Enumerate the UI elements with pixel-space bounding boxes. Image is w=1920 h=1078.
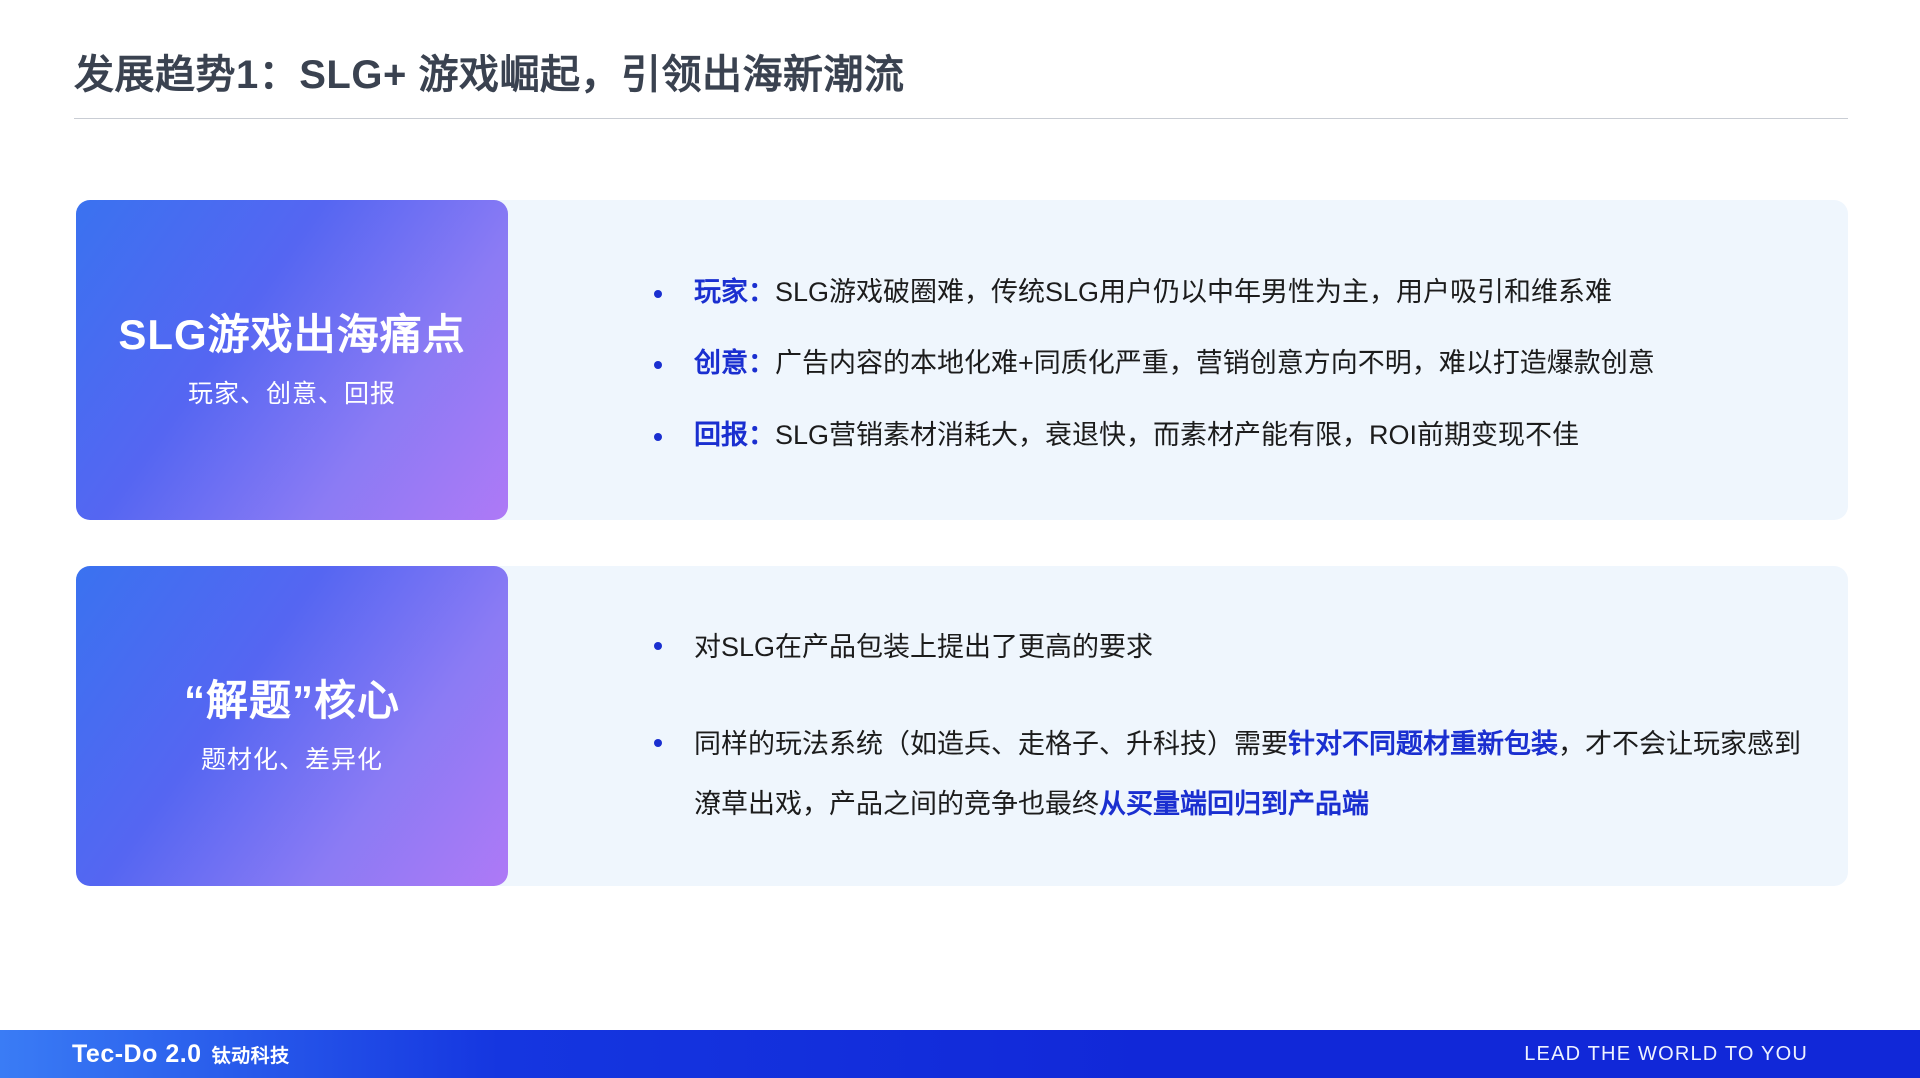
bullet-body-text-part-1: 同样的玩法系统（如造兵、走格子、升科技）需要: [694, 729, 1288, 759]
panel-subtitle: 题材化、差异化: [201, 740, 383, 776]
list-item: 对SLG在产品包装上提出了更高的要求: [648, 617, 1808, 678]
bullet-dot-icon: [654, 433, 662, 441]
bullet-lead-label: 创意：: [694, 348, 775, 378]
footer-tagline: LEAD THE WORLD TO YOU: [1524, 1043, 1808, 1066]
section-pain-points: SLG游戏出海痛点 玩家、创意、回报 玩家：SLG游戏破圈难，传统SLG用户仍以…: [76, 200, 1848, 520]
section-content-solution-core: 对SLG在产品包装上提出了更高的要求 同样的玩法系统（如造兵、走格子、升科技）需…: [508, 566, 1848, 886]
section-panel-pain-points: SLG游戏出海痛点 玩家、创意、回报: [76, 200, 508, 520]
list-item: 创意：广告内容的本地化难+同质化严重，营销创意方向不明，难以打造爆款创意: [648, 344, 1808, 383]
footer-bar: Tec-Do 2.0 钛动科技 LEAD THE WORLD TO YOU: [0, 1030, 1920, 1078]
bullet-body-text: 对SLG在产品包装上提出了更高的要求: [694, 632, 1153, 662]
bullet-dot-icon: [654, 290, 662, 298]
bullet-dot-icon: [654, 739, 662, 747]
brand-logo: Tec-Do 2.0 钛动科技: [72, 1040, 290, 1069]
bullet-body-text: 广告内容的本地化难+同质化严重，营销创意方向不明，难以打造爆款创意: [775, 348, 1655, 378]
bullet-dot-icon: [654, 361, 662, 369]
list-item: 玩家：SLG游戏破圈难，传统SLG用户仍以中年男性为主，用户吸引和维系难: [648, 273, 1808, 312]
title-divider: [74, 118, 1848, 119]
page-title: 发展趋势1：SLG+ 游戏崛起，引领出海新潮流: [74, 42, 904, 100]
bullet-highlight-2: 从买量端回归到产品端: [1099, 789, 1369, 819]
brand-name-cn: 钛动科技: [212, 1041, 290, 1068]
section-solution-core: “解题”核心 题材化、差异化 对SLG在产品包装上提出了更高的要求 同样的玩法系…: [76, 566, 1848, 886]
section-panel-solution-core: “解题”核心 题材化、差异化: [76, 566, 508, 886]
bullet-dot-icon: [654, 642, 662, 650]
bullet-body-text: SLG游戏破圈难，传统SLG用户仍以中年男性为主，用户吸引和维系难: [775, 277, 1612, 307]
panel-subtitle: 玩家、创意、回报: [188, 374, 396, 410]
list-item: 回报：SLG营销素材消耗大，衰退快，而素材产能有限，ROI前期变现不佳: [648, 416, 1808, 455]
bullet-lead-label: 回报：: [694, 420, 775, 450]
bullet-body-text: SLG营销素材消耗大，衰退快，而素材产能有限，ROI前期变现不佳: [775, 420, 1579, 450]
brand-name-en: Tec-Do 2.0: [72, 1040, 202, 1069]
bullet-lead-label: 玩家：: [694, 277, 775, 307]
section-content-pain-points: 玩家：SLG游戏破圈难，传统SLG用户仍以中年男性为主，用户吸引和维系难 创意：…: [508, 200, 1848, 520]
bullet-highlight-1: 针对不同题材重新包装: [1288, 729, 1558, 759]
panel-title: “解题”核心: [184, 676, 400, 726]
list-item: 同样的玩法系统（如造兵、走格子、升科技）需要针对不同题材重新包装，才不会让玩家感…: [648, 714, 1808, 836]
panel-title: SLG游戏出海痛点: [118, 310, 465, 360]
